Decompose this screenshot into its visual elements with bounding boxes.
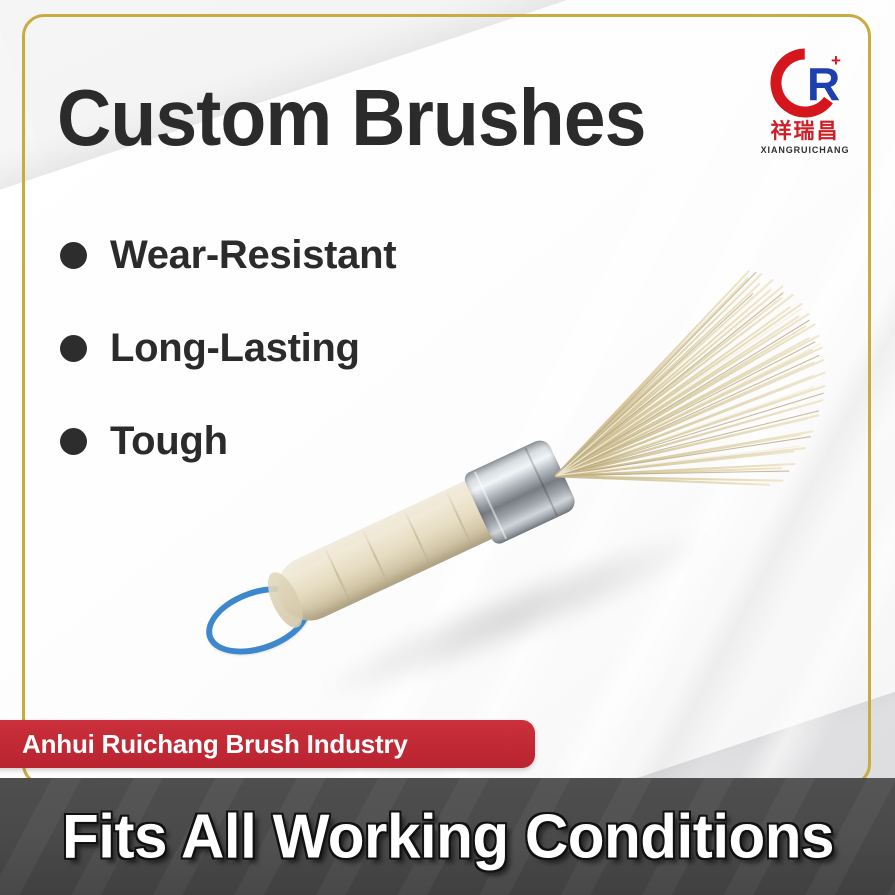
logo-chinese-name: 祥瑞昌 [748, 121, 862, 142]
tagline-text: Fits All Working Conditions [61, 801, 833, 872]
logo-pinyin: XIANGRUICHANG [748, 145, 862, 155]
list-item: Wear-Resistant [60, 226, 396, 284]
company-banner: Anhui Ruichang Brush Industry [0, 720, 535, 768]
logo-mark-cr-icon: R + [748, 48, 862, 120]
company-name: Anhui Ruichang Brush Industry [22, 729, 408, 760]
bullet-dot-icon [60, 242, 87, 269]
feature-label: Long-Lasting [110, 326, 360, 371]
feature-label: Tough [110, 419, 228, 464]
list-item: Long-Lasting [60, 319, 396, 377]
feature-list: Wear-Resistant Long-Lasting Tough [60, 226, 396, 505]
brand-logo: R + 祥瑞昌 XIANGRUICHANG [748, 48, 862, 170]
feature-label: Wear-Resistant [110, 233, 396, 278]
list-item: Tough [60, 412, 396, 470]
page-title: Custom Brushes [57, 78, 646, 158]
bullet-dot-icon [60, 335, 87, 362]
product-poster: Custom Brushes R + 祥瑞昌 XIANGRUICHANG Wea… [0, 0, 895, 895]
bottom-tagline-bar: Fits All Working Conditions [0, 778, 895, 895]
bullet-dot-icon [60, 428, 87, 455]
svg-text:+: + [831, 51, 841, 70]
